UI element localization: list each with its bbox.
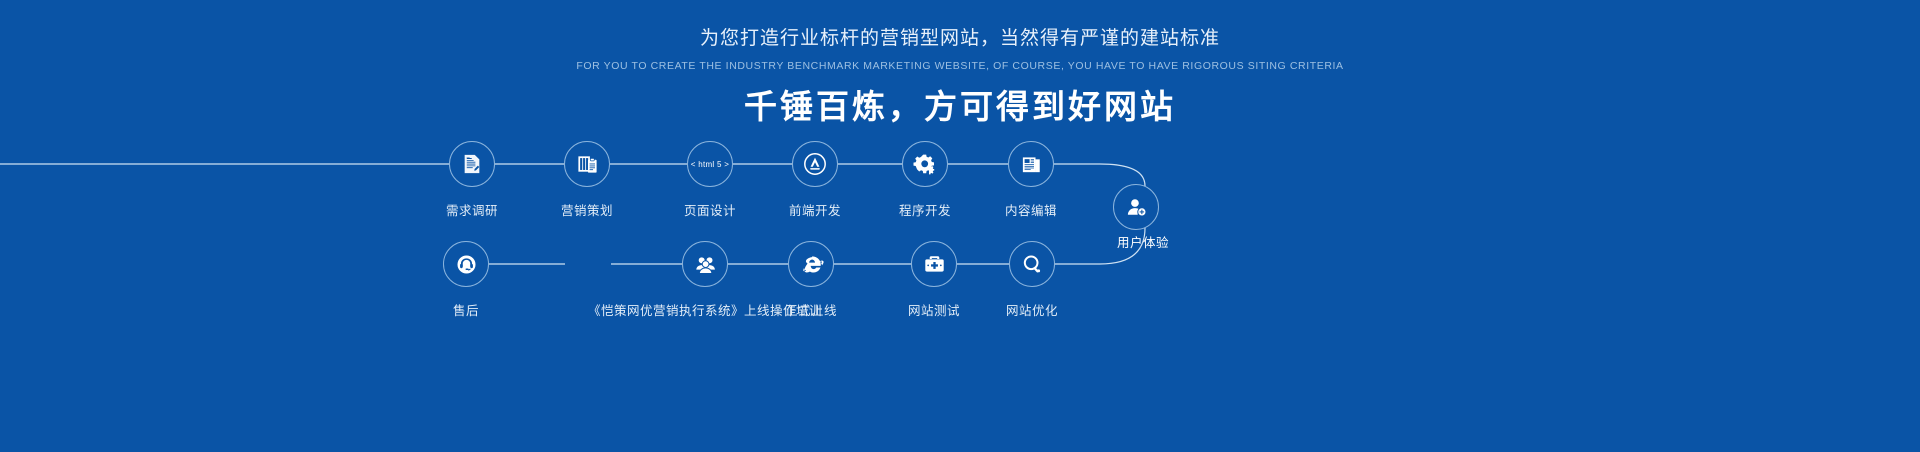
- node-requirement-research[interactable]: W: [449, 141, 495, 187]
- node-official-launch[interactable]: [788, 241, 834, 287]
- document-word-icon: W: [461, 153, 483, 175]
- search-magnifier-icon: [1021, 253, 1044, 276]
- node-label-website-optimization: 网站优化: [1006, 300, 1058, 319]
- user-add-icon: [1125, 196, 1148, 219]
- node-marketing-planning[interactable]: [564, 141, 610, 187]
- node-label-requirement-research: 需求调研: [446, 200, 498, 219]
- flow-connector-lines: [0, 0, 1920, 452]
- html5-tag-icon: < html 5 >: [691, 160, 730, 169]
- node-program-development[interactable]: [902, 141, 948, 187]
- promo-banner: 为您打造行业标杆的营销型网站，当然得有严谨的建站标准 FOR YOU TO CR…: [0, 0, 1920, 452]
- process-flow-diagram: W 需求调研 营销策划 < html 5 >: [0, 0, 1920, 452]
- node-after-sales[interactable]: [443, 241, 489, 287]
- node-label-page-design: 页面设计: [684, 200, 736, 219]
- gears-icon: [913, 152, 937, 176]
- node-label-marketing-planning: 营销策划: [561, 200, 613, 219]
- node-label-after-sales: 售后: [453, 300, 479, 319]
- internet-explorer-icon: [799, 252, 824, 277]
- node-label-program-development: 程序开发: [899, 200, 951, 219]
- presentation-board-icon: [694, 253, 717, 276]
- node-page-design[interactable]: < html 5 >: [687, 141, 733, 187]
- newspaper-icon: [1020, 153, 1043, 176]
- medical-kit-icon: [923, 253, 946, 276]
- node-label-user-experience: 用户体验: [1117, 232, 1169, 251]
- headset-support-icon: [455, 253, 478, 276]
- node-website-testing[interactable]: [911, 241, 957, 287]
- node-website-optimization[interactable]: [1009, 241, 1055, 287]
- node-content-editing[interactable]: [1008, 141, 1054, 187]
- node-frontend-development[interactable]: [792, 141, 838, 187]
- node-label-frontend-development: 前端开发: [789, 200, 841, 219]
- node-system-training[interactable]: [682, 241, 728, 287]
- node-user-experience[interactable]: [1113, 184, 1159, 230]
- node-label-website-testing: 网站测试: [908, 300, 960, 319]
- marketing-plan-icon: [576, 153, 599, 176]
- app-store-icon: [803, 152, 827, 176]
- node-label-system-training: 《恺策网优营销执行系统》上线操作培训: [588, 300, 822, 319]
- node-label-content-editing: 内容编辑: [1005, 200, 1057, 219]
